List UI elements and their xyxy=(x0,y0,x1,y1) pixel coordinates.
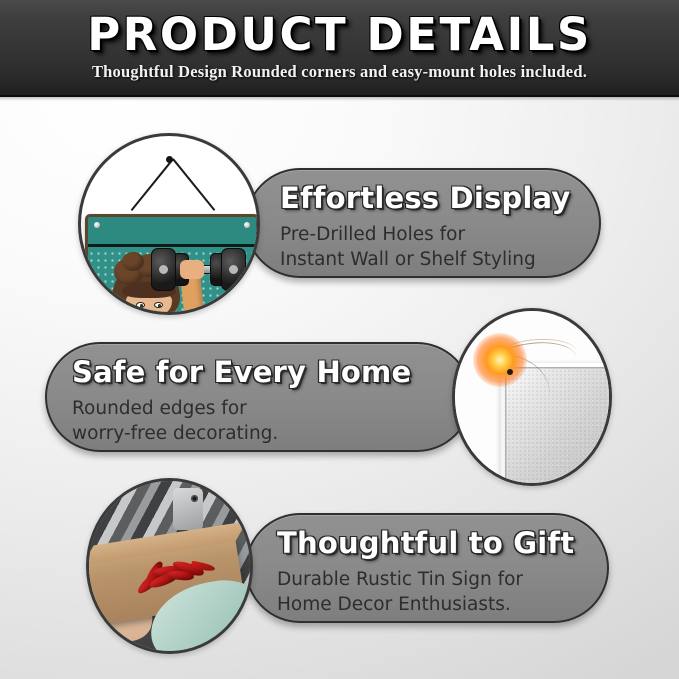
woman-eye-right xyxy=(154,302,163,308)
feature-body-thoughtful-to-gift: Durable Rustic Tin Sign for Home Decor E… xyxy=(277,567,523,617)
feature-title-thoughtful-to-gift: Thoughtful to Gift xyxy=(277,526,574,560)
feature-image-gift-box xyxy=(86,478,253,654)
header-band: PRODUCT DETAILS Thoughtful Design Rounde… xyxy=(0,0,679,97)
metal-corner-scene xyxy=(455,311,609,483)
corner-mount-hole xyxy=(507,369,513,375)
feature-card-effortless-display: Effortless Display Pre-Drilled Holes for… xyxy=(245,168,601,278)
feature-body-line-2: Home Decor Enthusiasts. xyxy=(277,592,523,617)
tin-sign-plate: STRONG IS THE xyxy=(85,214,259,315)
hanging-cord-right xyxy=(172,158,215,210)
woman-hair-bun-3 xyxy=(122,252,144,271)
feature-body-line-2: Instant Wall or Shelf Styling xyxy=(280,247,536,272)
feature-image-hanging-tin-sign: STRONG IS THE xyxy=(78,133,260,315)
feature-body-effortless-display: Pre-Drilled Holes for Instant Wall or Sh… xyxy=(280,222,536,272)
mount-hole-right xyxy=(244,222,250,228)
page-subtitle: Thoughtful Design Rounded corners and ea… xyxy=(0,62,679,82)
sign-headline-band xyxy=(88,217,256,247)
dumbbell-plate-left xyxy=(151,248,176,291)
feature-body-line-1: Pre-Drilled Holes for xyxy=(280,222,536,247)
dumbbell-plate-right xyxy=(221,248,246,291)
woman-eye-left xyxy=(136,302,145,308)
feature-card-thoughtful-to-gift: Thoughtful to Gift Durable Rustic Tin Si… xyxy=(245,513,609,623)
feature-body-safe-for-every-home: Rounded edges for worry-free decorating. xyxy=(72,396,278,446)
mount-hole-left xyxy=(94,222,100,228)
feature-body-line-1: Durable Rustic Tin Sign for xyxy=(277,567,523,592)
feature-card-safe-for-every-home: Safe for Every Home Rounded edges for wo… xyxy=(45,342,472,452)
feature-title-safe-for-every-home: Safe for Every Home xyxy=(72,355,411,389)
feature-body-line-2: worry-free decorating. xyxy=(72,421,278,446)
tin-sign-scene: STRONG IS THE xyxy=(81,136,257,312)
feature-image-rounded-metal-corner xyxy=(452,308,612,486)
wall-nail-icon xyxy=(166,156,173,163)
page-title: PRODUCT DETAILS xyxy=(0,8,679,61)
feature-title-effortless-display: Effortless Display xyxy=(280,181,571,215)
corner-glow-highlight-icon xyxy=(473,333,527,387)
woman-fist xyxy=(180,260,204,279)
feature-body-line-1: Rounded edges for xyxy=(72,396,278,421)
phone-in-pocket xyxy=(173,488,203,530)
gift-box-scene xyxy=(89,481,250,651)
hanging-cord-left xyxy=(131,158,174,210)
product-details-infographic: PRODUCT DETAILS Thoughtful Design Rounde… xyxy=(0,0,679,679)
